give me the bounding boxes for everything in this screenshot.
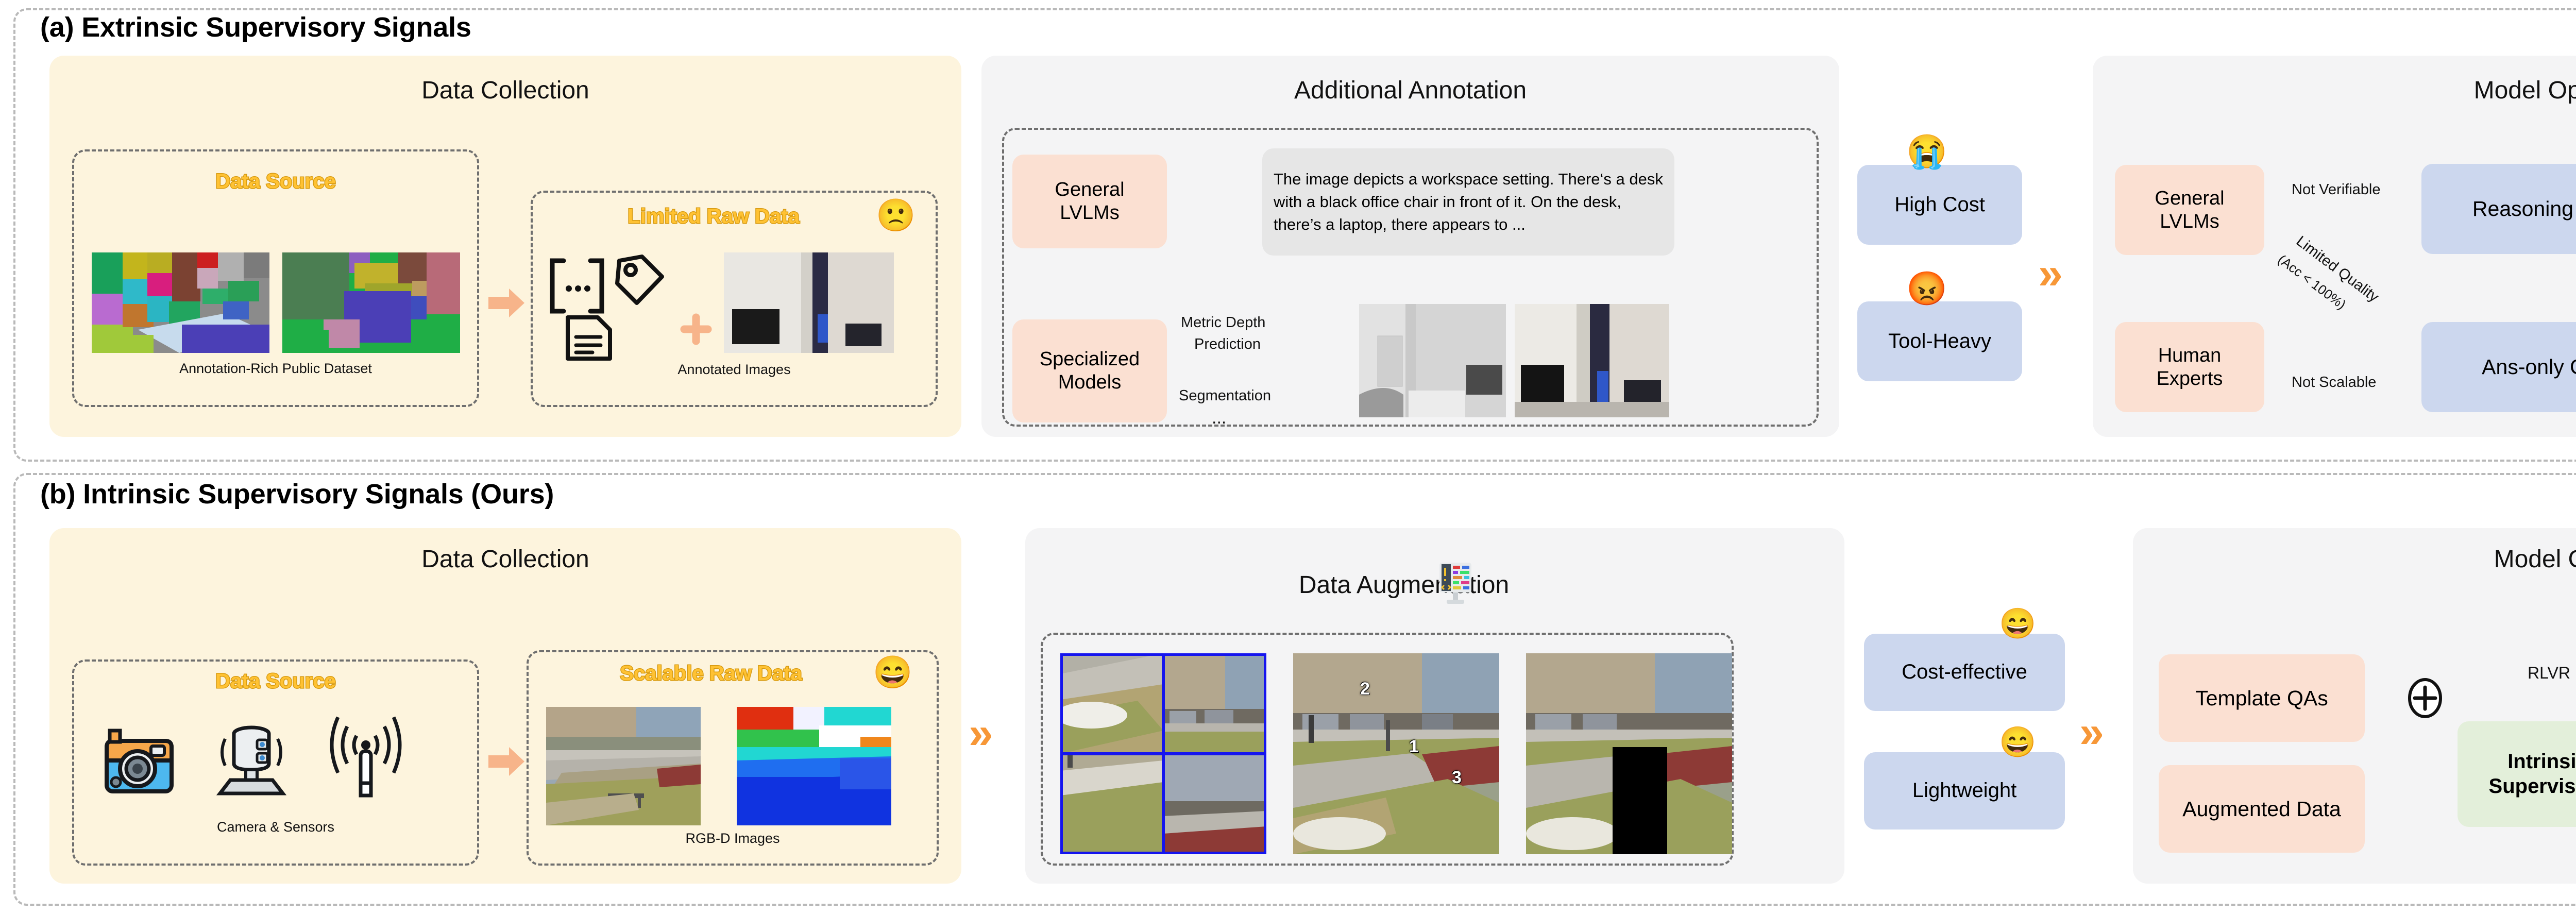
group-title-limited-raw-data: Limited Raw Data (510, 205, 917, 228)
angry-face-icon: 😡 (1906, 272, 1947, 305)
stage-title-additional-annotation: Additional Annotation (981, 76, 1839, 105)
orange-arrow-a1 (488, 289, 524, 320)
issue-tool-heavy-box[interactable]: Tool-Heavy (1857, 301, 2022, 381)
lvlm-output-textbox: The image depicts a workspace setting. T… (1262, 148, 1674, 256)
task-label-prediction: Prediction (1194, 336, 1261, 353)
panel-b-caption: (b) Intrinsic Supervisory Signals (Ours) (40, 478, 554, 510)
template-qas-box[interactable]: Template QAs (2159, 654, 2365, 742)
task-label-segmentation: Segmentation (1179, 387, 1271, 404)
marker-2: 2 (1360, 679, 1370, 699)
loudly-crying-face-icon: 😭 (1906, 135, 1947, 168)
slightly-frowning-face-icon: 🙁 (876, 200, 916, 232)
depth-output-image (1359, 304, 1506, 417)
panel-a-caption: (a) Extrinsic Supervisory Signals (40, 11, 471, 43)
tag-icon (611, 253, 665, 310)
camera-icon (100, 721, 178, 796)
reasoning-qas-box[interactable]: Reasoning QAs (2421, 164, 2576, 254)
bracket-ellipsis-icon (546, 258, 608, 317)
benefit-lightweight-box[interactable]: Lightweight (1864, 752, 2065, 830)
source-human-experts-box[interactable]: Human Experts (2115, 322, 2264, 412)
orange-arrow-b1 (488, 747, 524, 778)
stage-title-data-collection-a: Data Collection (49, 76, 961, 105)
stage-title-data-collection-b: Data Collection (49, 545, 961, 573)
marker-1: 1 (1409, 737, 1419, 757)
merge-plus-node (2405, 678, 2445, 718)
caption-annotation-rich-dataset: Annotation-Rich Public Dataset (72, 361, 479, 377)
stage-title-model-optimization-a: Model Optimization (2093, 76, 2576, 105)
mosaic-augmented-image (1060, 653, 1266, 854)
chevron-right-double-b2: » (2079, 710, 2100, 754)
depth-image (737, 707, 891, 825)
task-label-ellipsis: ... (1212, 408, 1226, 428)
segmentation-output-image (1515, 304, 1669, 417)
masked-augmented-image (1526, 653, 1732, 854)
edge-label-not-verifiable: Not Verifiable (2292, 181, 2381, 198)
plus-sign-icon (680, 313, 712, 348)
caption-camera-and-sensors: Camera & Sensors (72, 819, 479, 835)
augmented-data-box[interactable]: Augmented Data (2159, 765, 2365, 853)
group-title-data-source-b: Data Source (72, 670, 479, 693)
annotated-image-room (724, 252, 894, 353)
marker-3: 3 (1452, 768, 1462, 788)
radio-antenna-icon (325, 711, 407, 799)
chevron-right-double-a1: » (2038, 251, 2059, 296)
edge-label-not-scalable: Not Scalable (2292, 374, 2376, 391)
figure-root: (a) Extrinsic Supervisory Signals Data C… (0, 0, 2576, 914)
source-general-lvlms-box[interactable]: General LVLMs (2115, 165, 2264, 255)
ans-only-qas-box[interactable]: Ans-only QAs (2421, 322, 2576, 412)
grinning-face-icon-raw-data: 😄 (873, 657, 912, 689)
task-label-metric-depth: Metric Depth (1181, 314, 1265, 331)
rgb-image (546, 707, 701, 825)
segmentation-image-2 (282, 252, 460, 353)
grinning-face-icon-cost-effective: 😄 (1999, 609, 2036, 639)
stage-title-model-optimization-b: Model Optimization (2133, 545, 2576, 573)
group-title-scalable-raw-data: Scalable Raw Data (507, 662, 914, 685)
issue-high-cost-box[interactable]: High Cost (1857, 165, 2022, 245)
document-icon (562, 313, 616, 365)
intrinsic-supervision-box: Intrinsic Supervision (2458, 721, 2576, 827)
code-monitor-icon (1437, 562, 1473, 606)
specialized-models-box[interactable]: Specialized Models (1012, 319, 1167, 422)
lidar-sensor-icon (213, 715, 290, 798)
grinning-face-icon-lightweight: 😄 (1999, 727, 2036, 757)
caption-rgbd-images: RGB-D Images (527, 831, 939, 847)
stage-title-data-augmentation: Data Augmentation (994, 571, 1814, 599)
marked-augmented-image (1293, 653, 1499, 854)
group-title-data-source-a: Data Source (72, 170, 479, 193)
benefit-cost-effective-box[interactable]: Cost-effective (1864, 634, 2065, 711)
train-label-rlvr-b: RLVR (2528, 664, 2570, 683)
segmentation-image-1 (92, 252, 269, 353)
general-lvlms-box-a[interactable]: General LVLMs (1012, 155, 1167, 248)
chevron-right-double-b1: » (969, 711, 989, 755)
caption-annotated-images: Annotated Images (531, 362, 938, 378)
